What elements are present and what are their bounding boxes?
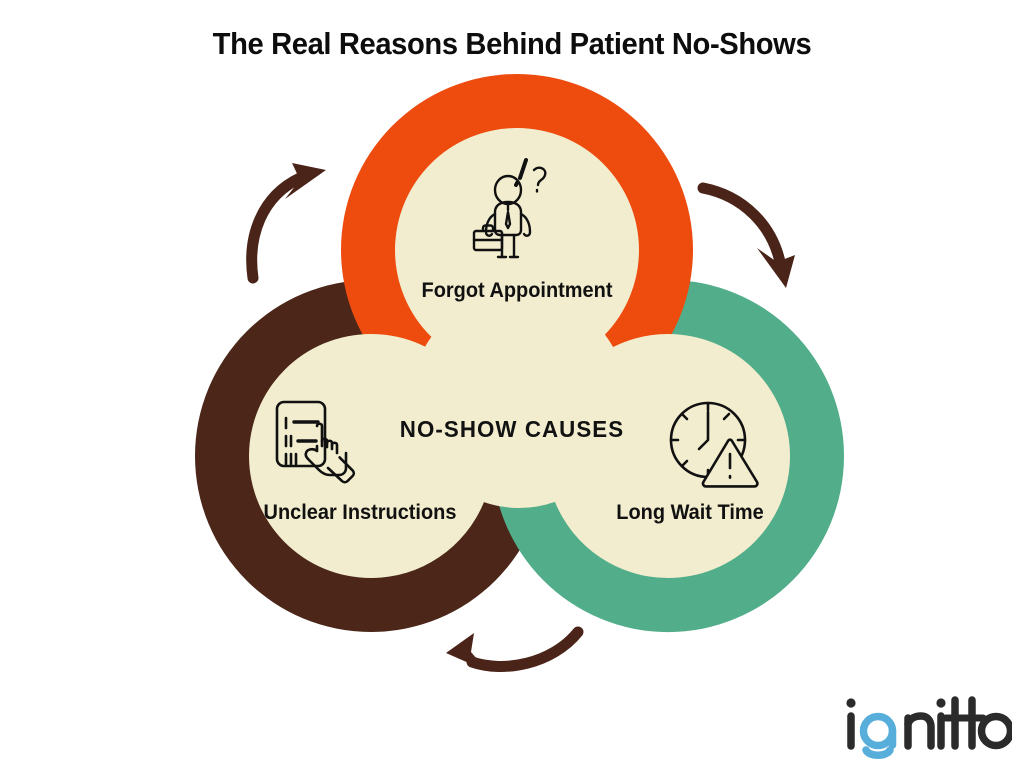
curved-arrow-up-right-icon	[252, 163, 326, 278]
node-label-long-wait-time: Long Wait Time	[510, 501, 871, 525]
clock-warning-icon	[666, 398, 762, 488]
center-label: NO-SHOW CAUSES	[318, 416, 706, 443]
curved-arrow-left-icon	[446, 632, 578, 671]
node-label-unclear-instructions: Unclear Instructions	[180, 501, 541, 525]
node-label-forgot-appointment: Forgot Appointment	[327, 279, 707, 303]
logo-letter-i-dot	[846, 698, 855, 707]
curved-arrow-down-right-icon	[703, 188, 795, 288]
ignitto-logo[interactable]	[842, 690, 1012, 764]
logo-letter-g	[864, 717, 893, 756]
confused-person-briefcase-icon	[468, 152, 568, 262]
no-show-causes-diagram	[0, 0, 1024, 768]
